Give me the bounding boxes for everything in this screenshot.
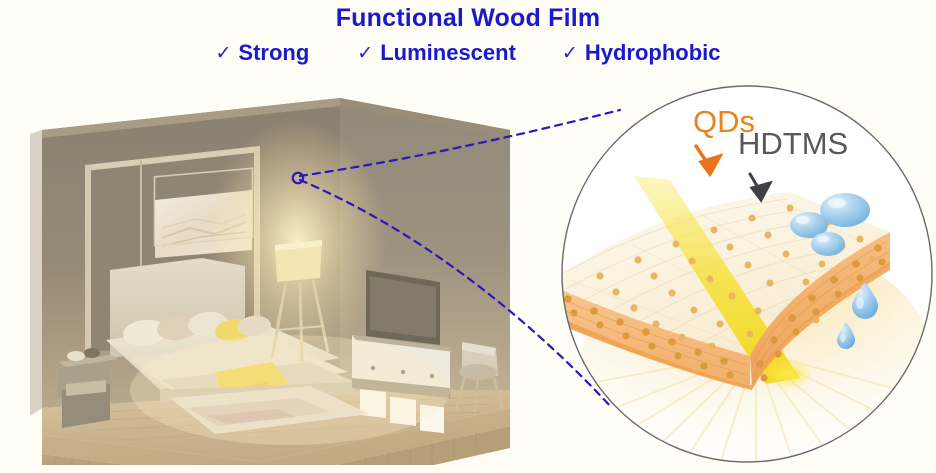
bedroom-scene <box>10 90 550 465</box>
droplet-beaded <box>820 193 870 227</box>
droplet-beaded <box>811 232 845 256</box>
check-icon: ✓ <box>357 42 373 65</box>
title-block: Functional Wood Film ✓ Strong ✓ Luminesc… <box>0 0 936 66</box>
graphical-abstract-figure: Functional Wood Film ✓ Strong ✓ Luminesc… <box>0 0 936 473</box>
feature-item-strong: ✓ Strong <box>215 40 309 66</box>
check-icon: ✓ <box>562 42 578 65</box>
hdtms-label: HDTMS <box>738 128 848 159</box>
check-icon: ✓ <box>215 42 231 65</box>
feature-label-luminescent: Luminescent <box>380 40 516 66</box>
feature-item-hydrophobic: ✓ Hydrophobic <box>562 40 721 66</box>
wall-panel-frame-left <box>85 165 91 352</box>
wall-left-edge <box>30 130 42 416</box>
bedroom-render-svg <box>10 90 550 465</box>
feature-item-luminescent: ✓ Luminescent <box>357 40 516 66</box>
floor-light-wash <box>130 335 450 445</box>
nightstand-plant <box>84 348 100 358</box>
wood-film-inset: QDs HDTMS <box>560 84 934 464</box>
feature-label-hydrophobic: Hydrophobic <box>585 40 721 66</box>
feature-label-strong: Strong <box>238 40 309 66</box>
feature-list: ✓ Strong ✓ Luminescent ✓ Hydrophobic <box>0 40 936 66</box>
nightstand-decor <box>67 351 85 361</box>
page-title: Functional Wood Film <box>0 6 936 31</box>
